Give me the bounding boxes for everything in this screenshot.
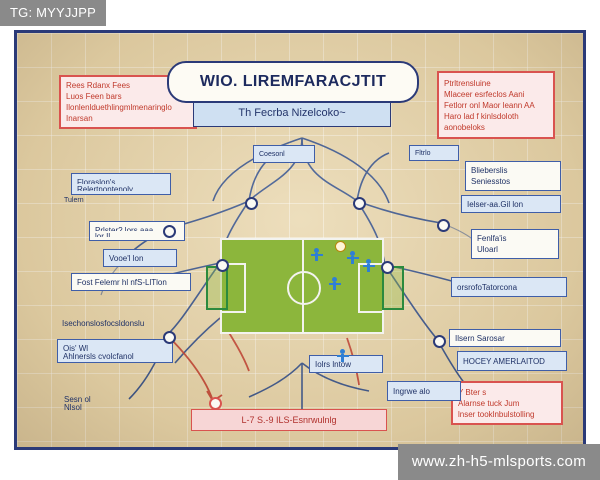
- player-attacker-blue: [350, 251, 355, 264]
- tactics-poster: WIO. LIREMFARACJTIT Th Fecrba Nizelcoko~…: [14, 30, 586, 450]
- ball-icon: [335, 241, 346, 252]
- label-top-mid-line-1: Coesonl: [259, 150, 309, 159]
- junction-node-nw: [245, 197, 258, 210]
- label-left-f-line-1: Ois' Wl: [63, 343, 167, 351]
- label-left-upper: Floraslon'sRelertnontenoly: [71, 173, 171, 195]
- label-right-area: Fenlfa'isUloarl: [471, 229, 559, 259]
- label-left-c-line-1: Vooe'l lon: [109, 253, 171, 263]
- label-top-right-line-1: Fltrlo: [415, 149, 453, 157]
- label-right-area-line-2: Uloarl: [477, 244, 553, 255]
- legend-bottom-right-line-1: Y Bter s: [458, 387, 556, 398]
- label-right-box-line-1: HOCEY AMERLAITOD: [463, 356, 561, 367]
- label-left-a: Tulern: [59, 193, 117, 207]
- site-watermark: www.zh-h5-mlsports.com: [398, 444, 600, 480]
- label-left-c: Vooe'l lon: [103, 249, 177, 267]
- label-left-a-line-1: Tulern: [64, 196, 112, 204]
- junction-node-sw: [163, 331, 176, 344]
- legend-top-right-line-3: Fetlorr onl Maor leann AA: [444, 100, 548, 111]
- junction-node-s-red: [209, 397, 222, 410]
- label-right-low-line-1: Ilsern Sarosar: [455, 333, 555, 343]
- football-pitch: [220, 238, 384, 334]
- label-right-low: Ilsern Sarosar: [449, 329, 561, 347]
- label-bottom-mid-line-1: Iolrs lntow: [315, 359, 377, 369]
- label-right-mid-line-1: Ielser-aa.Gil lon: [467, 199, 555, 209]
- junction-node-w: [163, 225, 176, 238]
- legend-top-right-line-2: Mlaceer esrfeclos Aani: [444, 89, 548, 100]
- tg-tag-badge: TG: MYYJJPP: [0, 0, 106, 26]
- label-top-right: Fltrlo: [409, 145, 459, 161]
- label-top-mid: Coesonl: [253, 145, 315, 163]
- poster-title: WIO. LIREMFARACJTIT: [200, 73, 386, 91]
- label-left-upper-line-2: Relertnontenoly: [77, 184, 165, 191]
- banner-bottom-line-1: L-7 S.-9 ILS-Esnrwulnlg: [197, 415, 381, 426]
- label-left-f-line-2: Ahlnersls cyolcfanol: [63, 351, 167, 359]
- junction-node-ec: [381, 261, 394, 274]
- label-bottom-right-line-1: Ingrwe alo: [393, 386, 455, 397]
- label-left-g-line-2: Nlsol: [64, 402, 124, 410]
- legend-bottom-right: Y Bter sAlarnse tuck Jumlnser tooklnbuls…: [451, 381, 563, 425]
- label-left-upper-line-1: Floraslon's: [77, 177, 165, 184]
- banner-bottom: L-7 S.-9 ILS-Esnrwulnlg: [191, 409, 387, 431]
- legend-top-right-line-1: Ptrltrensluine: [444, 78, 548, 89]
- label-northeast-line-1: Blieberslis: [471, 165, 555, 176]
- legend-top-left-line-3: Ilonlenlduethlingmlmenaringlo: [66, 102, 190, 113]
- label-northeast: BlieberslisSeniesstos: [465, 161, 561, 191]
- legend-top-right: PtrltrensluineMlaceer esrfeclos AaniFetl…: [437, 71, 555, 139]
- player-center-blue: [332, 277, 337, 290]
- goal-zone-left: [206, 266, 228, 310]
- label-left-g-line-1: Sesn ol: [64, 394, 124, 402]
- label-right-area-line-1: Fenlfa'is: [477, 233, 553, 244]
- label-right-main-line-1: orsrofoTatorcona: [457, 282, 561, 293]
- label-left-e: Isechonslosfocsldonslu: [57, 315, 193, 329]
- legend-bottom-right-line-3: lnser tooklnbulstolling: [458, 409, 556, 420]
- legend-top-right-line-4: Haro lad f kinlsdoloth: [444, 111, 548, 122]
- label-left-d-line-1: Fost Felemr hl nfS-LlTlon: [77, 277, 185, 287]
- junction-node-se: [433, 335, 446, 348]
- label-northeast-line-2: Seniesstos: [471, 176, 555, 187]
- player-low-blue: [340, 349, 345, 362]
- poster-subtitle-card: Th Fecrba Nizelcoko~: [193, 99, 391, 127]
- player-midfield-blue: [314, 248, 319, 261]
- label-left-g: Sesn olNlsol: [59, 391, 129, 413]
- center-circle: [287, 271, 321, 305]
- label-bottom-mid: Iolrs lntow: [309, 355, 383, 373]
- label-right-box: HOCEY AMERLAITOD: [457, 351, 567, 371]
- legend-bottom-right-line-2: Alarnse tuck Jum: [458, 398, 556, 409]
- label-left-e-line-1: Isechonslosfocsldonslu: [62, 318, 188, 326]
- label-right-main: orsrofoTatorcona: [451, 277, 567, 297]
- label-left-f: Ois' WlAhlnersls cyolcfanol: [57, 339, 173, 363]
- player-wide-blue: [366, 259, 371, 272]
- label-right-mid: Ielser-aa.Gil lon: [461, 195, 561, 213]
- legend-top-right-line-5: aonobeloks: [444, 122, 548, 133]
- label-bottom-right: Ingrwe alo: [387, 381, 461, 401]
- junction-node-ne: [353, 197, 366, 210]
- junction-node-wc: [216, 259, 229, 272]
- junction-node-e: [437, 219, 450, 232]
- label-left-d: Fost Felemr hl nfS-LlTlon: [71, 273, 191, 291]
- poster-title-card: WIO. LIREMFARACJTIT: [167, 61, 419, 103]
- legend-top-left-line-4: Inarsan: [66, 113, 190, 124]
- poster-subtitle: Th Fecrba Nizelcoko~: [238, 107, 345, 119]
